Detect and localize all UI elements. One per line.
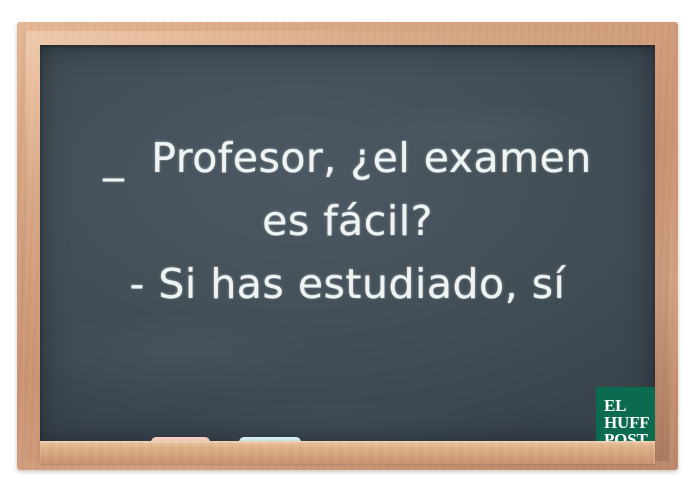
chalkboard-surface: _ Profesor, ¿el examen es fácil? - Si ha… [40, 45, 655, 441]
ledge-wood-grain [40, 441, 655, 464]
chalk-tray-ledge [40, 441, 655, 464]
chalk-quote-text: _ Profesor, ¿el examen es fácil? - Si ha… [40, 127, 655, 316]
image-canvas: _ Profesor, ¿el examen es fácil? - Si ha… [0, 0, 700, 495]
el-huff-post-logo: EL HUFF POST [596, 387, 655, 441]
chalkboard-wooden-frame: _ Profesor, ¿el examen es fácil? - Si ha… [17, 22, 678, 470]
logo-line-el: EL [604, 397, 626, 414]
quote-line-3: - Si has estudiado, sí [40, 253, 655, 316]
logo-line-post: POST [604, 431, 648, 442]
quote-line-1: _ Profesor, ¿el examen [40, 127, 655, 190]
logo-line-huff: HUFF [604, 414, 649, 431]
quote-line-2: es fácil? [40, 190, 655, 253]
